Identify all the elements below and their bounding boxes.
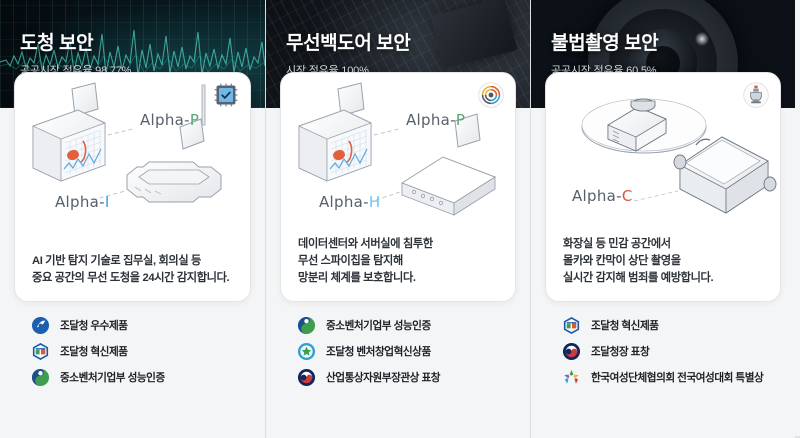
card-description: 화장실 등 민감 공간에서 몰카와 칸막이 상단 촬영을 실시간 감지해 범죄를… — [563, 236, 768, 287]
label-alpha-p-base: Alpha- — [140, 111, 190, 129]
certification-item: 중소벤처기업부 성능인증 — [31, 368, 251, 387]
smba-performance-icon — [31, 368, 50, 387]
certification-label: 한국여성단체협의회 전국여성대회 특별상 — [591, 370, 763, 385]
product-card-alpha-c[interactable]: Alpha-C 화장실 등 민감 공간에서 몰카와 칸막이 상단 촬영을 실시간… — [545, 72, 781, 302]
label-alpha-p-suffix: P — [456, 111, 465, 129]
motie-minister-award-icon — [297, 368, 316, 387]
procurement-innovation-icon — [562, 316, 581, 335]
hero-text-block: 불법촬영 보안 공공시장 점유율 60.5% — [551, 28, 658, 78]
panel-illegal-filming-security: 불법촬영 보안 공공시장 점유율 60.5% — [530, 0, 795, 438]
product-illustration-alpha-h — [281, 79, 516, 229]
procurement-head-award-icon — [562, 342, 581, 361]
hero-text-block: 도청 보안 공공시장 점유율 98.77% — [20, 28, 131, 78]
hero-title: 무선백도어 보안 — [286, 28, 410, 55]
product-illustration-alpha-i — [15, 79, 251, 229]
label-alpha-h: Alpha-H — [319, 193, 380, 211]
certification-list-3: 조달청 혁신제품 조달청장 표창 — [545, 316, 781, 387]
product-card-alpha-i[interactable]: Alpha-P Alpha-I AI 기반 탐지 기술로 집무실, 회의실 등 … — [14, 72, 251, 302]
label-alpha-p: Alpha-P — [406, 111, 465, 129]
product-illustration-alpha-c — [546, 79, 781, 229]
card-description: 데이터센터와 서버실에 침투한 무선 스파이칩을 탐지해 망분리 체계를 보호합… — [298, 236, 503, 287]
label-alpha-c-suffix: C — [622, 187, 633, 205]
certification-label: 중소벤처기업부 성능인증 — [60, 370, 165, 385]
label-alpha-c: Alpha-C — [572, 187, 633, 205]
certification-label: 조달청 혁신제품 — [60, 344, 128, 359]
certification-label: 조달청 벤처창업혁신상품 — [326, 344, 431, 359]
venture-startup-innovation-icon — [297, 342, 316, 361]
product-showcase-page: 도청 보안 공공시장 점유율 98.77% — [0, 0, 800, 438]
label-alpha-i-base: Alpha- — [55, 193, 105, 211]
certification-label: 조달청장 표창 — [591, 344, 649, 359]
certification-item: 조달청 혁신제품 — [562, 316, 781, 335]
label-alpha-c-base: Alpha- — [572, 187, 622, 205]
certification-item: 중소벤처기업부 성능인증 — [297, 316, 516, 335]
label-alpha-h-suffix: H — [369, 193, 381, 211]
hero-title: 불법촬영 보안 — [551, 28, 658, 55]
certification-item: 조달청장 표창 — [562, 342, 781, 361]
procurement-innovation-icon — [31, 342, 50, 361]
certification-label: 조달청 혁신제품 — [591, 318, 659, 333]
camera-lens-highlight — [695, 32, 709, 46]
certification-item: 조달청 우수제품 — [31, 316, 251, 335]
certification-item: 조달청 혁신제품 — [31, 342, 251, 361]
label-alpha-h-base: Alpha- — [319, 193, 369, 211]
label-alpha-i-suffix: I — [105, 193, 110, 211]
certification-item: 조달청 벤처창업혁신상품 — [297, 342, 516, 361]
women-association-award-icon — [562, 368, 581, 387]
label-alpha-i: Alpha-I — [55, 193, 110, 211]
panel-wireless-backdoor-security: 무선백도어 보안 시장 점유율 100% — [265, 0, 530, 438]
procurement-excellent-icon — [31, 316, 50, 335]
certification-item: 산업통상자원부장관상 표창 — [297, 368, 516, 387]
label-alpha-p: Alpha-P — [140, 111, 199, 129]
hero-text-block: 무선백도어 보안 시장 점유율 100% — [286, 28, 410, 78]
certification-list-1: 조달청 우수제품 조달청 혁신제품 — [14, 316, 251, 387]
product-card-alpha-h[interactable]: Alpha-P Alpha-H 데이터센터와 서버실에 침투한 무선 스파이칩을… — [280, 72, 516, 302]
hero-title: 도청 보안 — [20, 28, 131, 55]
certification-label: 중소벤처기업부 성능인증 — [326, 318, 431, 333]
certification-label: 조달청 우수제품 — [60, 318, 128, 333]
certification-item: 한국여성단체협의회 전국여성대회 특별상 — [562, 368, 781, 387]
smba-performance-icon — [297, 316, 316, 335]
panel-eavesdropping-security: 도청 보안 공공시장 점유율 98.77% — [0, 0, 265, 438]
card-description: AI 기반 탐지 기술로 집무실, 회의실 등 중요 공간의 무선 도청을 24… — [32, 253, 238, 287]
certification-list-2: 중소벤처기업부 성능인증 조달청 벤처창업혁신상품 — [280, 316, 516, 387]
label-alpha-p-suffix: P — [190, 111, 199, 129]
label-alpha-p-base: Alpha- — [406, 111, 456, 129]
certification-label: 산업통상자원부장관상 표창 — [326, 370, 440, 385]
